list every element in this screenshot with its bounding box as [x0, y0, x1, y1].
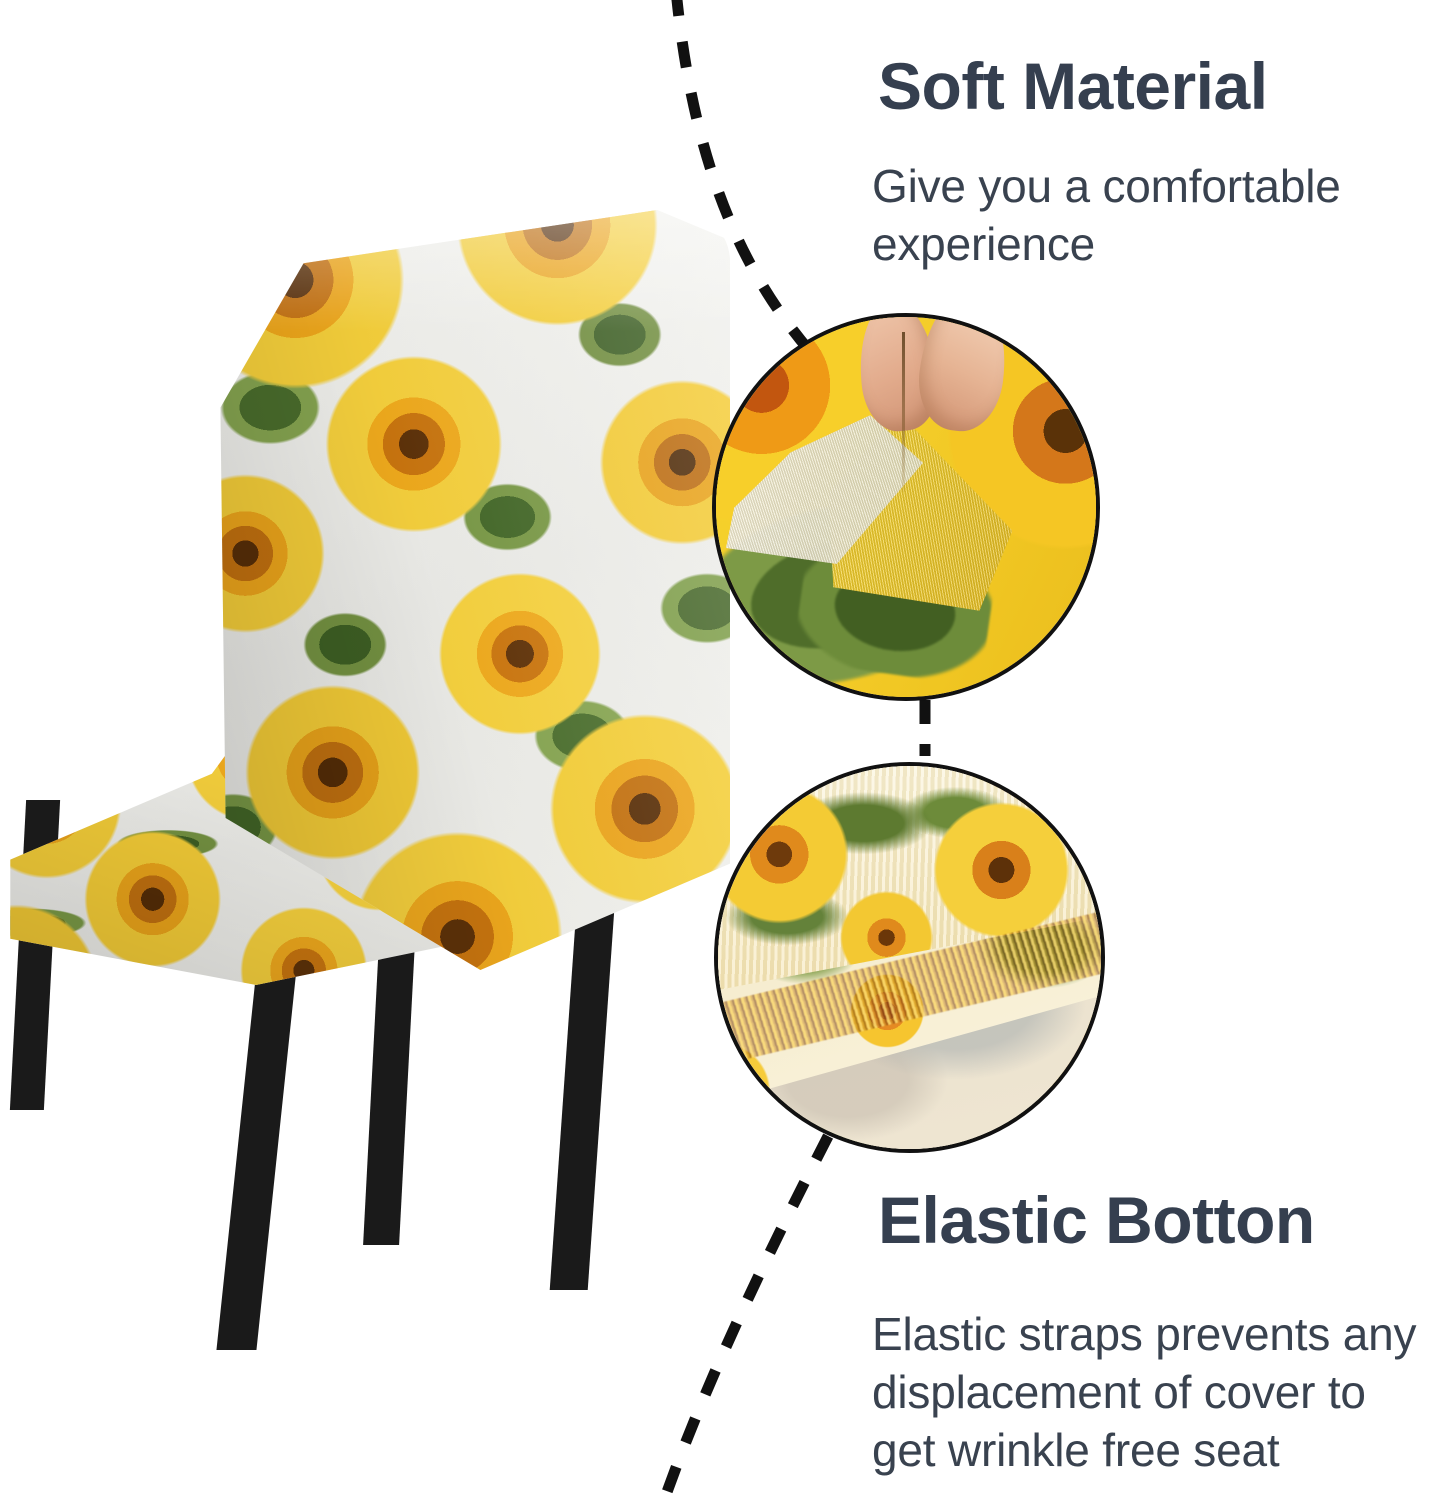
pinch-crease: [902, 332, 905, 492]
feature-description-elastic-botton: Elastic straps prevents any displacement…: [872, 1305, 1432, 1479]
chair-leg-front-left: [216, 940, 299, 1350]
soft-material-closeup: [712, 313, 1100, 701]
chair-with-sunflower-slipcover: [0, 200, 740, 1350]
chair-leg-front-right: [550, 910, 615, 1290]
feature-title-elastic-botton: Elastic Botton: [878, 1186, 1315, 1255]
elastic-bottom-closeup: [714, 762, 1105, 1153]
infographic-canvas: Soft Material Give you a comfortable exp…: [0, 0, 1449, 1500]
feature-title-soft-material: Soft Material: [878, 52, 1268, 121]
feature-description-soft-material: Give you a comfortable experience: [872, 157, 1412, 273]
